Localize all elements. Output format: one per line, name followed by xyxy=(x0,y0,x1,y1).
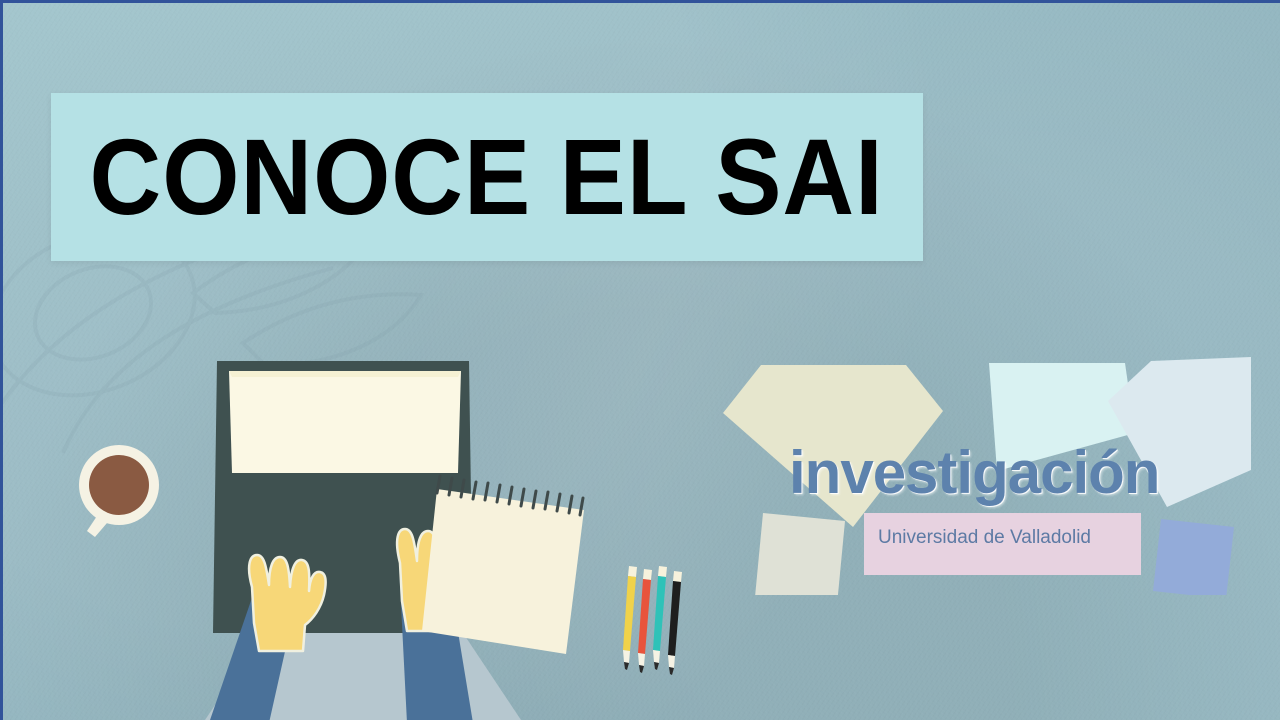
notepad xyxy=(422,476,584,654)
pencil-set xyxy=(623,566,682,675)
page-title: CONOCE EL SAI xyxy=(90,123,884,231)
logo-wordmark: investigación xyxy=(789,443,1159,503)
pencil-teal xyxy=(653,566,667,670)
uva-investigacion-logo: investigación Universidad de Valladolid xyxy=(721,355,1251,595)
pencil-black xyxy=(668,571,682,675)
square-pale-gray-icon xyxy=(755,513,845,595)
pencil-yellow xyxy=(623,566,637,670)
logo-subtitle: Universidad de Valladolid xyxy=(878,527,1091,549)
pencil-red xyxy=(638,569,652,673)
square-periwinkle-icon xyxy=(1153,519,1234,595)
desk-workspace-illustration xyxy=(3,333,723,720)
coffee-cup xyxy=(79,445,159,537)
laptop-screen xyxy=(229,371,461,473)
presentation-slide: CONOCE EL SAI xyxy=(0,0,1280,720)
title-banner: CONOCE EL SAI xyxy=(51,93,923,261)
